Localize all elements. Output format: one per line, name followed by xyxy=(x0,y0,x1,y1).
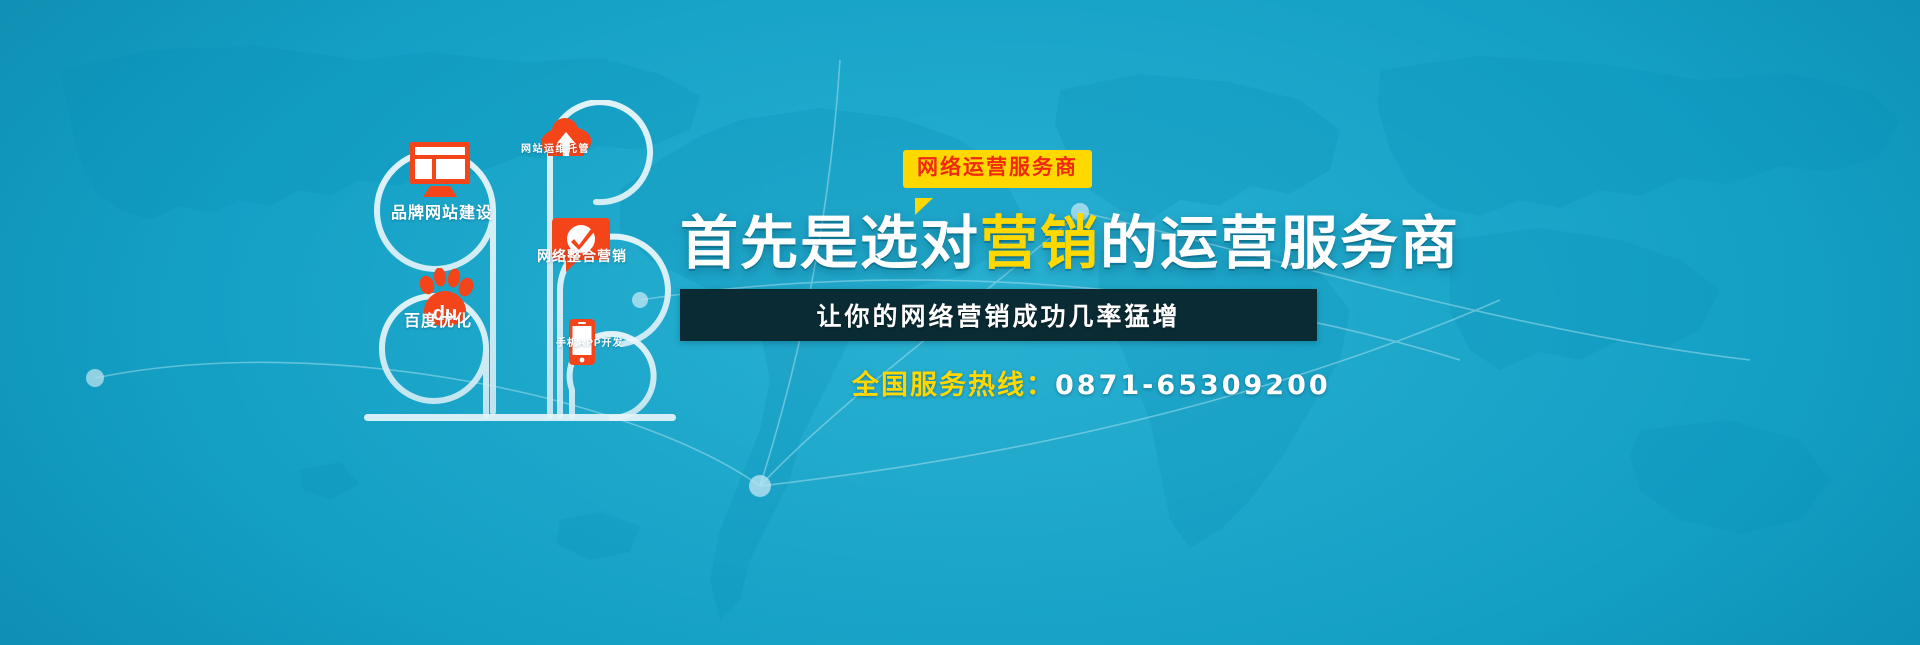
tree-label-brand-site: 品牌网站建设 xyxy=(391,199,493,223)
headline: 首先是选对营销的运营服务商 xyxy=(680,212,1380,277)
banner-content: 网络运营服务商 首先是选对营销的运营服务商 让你的网络营销成功几率猛增 全国服务… xyxy=(680,150,1380,402)
tree-ground-line xyxy=(364,414,676,421)
tree-label-baidu-seo: 百度优化 xyxy=(404,307,472,331)
monitor-icon xyxy=(408,140,472,198)
tree-label-site-hosting: 网站运维托管 xyxy=(521,140,590,155)
tree-label-app-dev: 手机APP开发 xyxy=(556,334,624,349)
tagline-badge-tail xyxy=(915,198,933,215)
tree-label-integrated-marketing: 网络整合营销 xyxy=(537,246,627,266)
headline-highlight: 营销 xyxy=(980,211,1100,276)
tagline-badge: 网络运营服务商 xyxy=(903,150,1092,188)
subtitle-bar: 让你的网络营销成功几率猛增 xyxy=(680,289,1317,341)
hotline: 全国服务热线：0871-65309200 xyxy=(852,363,1380,402)
headline-part2: 的运营服务商 xyxy=(1100,211,1460,276)
subtitle-text: 让你的网络营销成功几率猛增 xyxy=(816,297,1180,333)
headline-part1: 首先是选对 xyxy=(680,211,980,276)
tagline-badge-wrapper: 网络运营服务商 xyxy=(903,150,1380,198)
hotline-number: 0871-65309200 xyxy=(1055,370,1331,401)
hotline-label: 全国服务热线： xyxy=(852,370,1055,400)
promo-banner: du 品牌网站建设 网站运维托管 网络整合营销 百度优化 手机APP开发 网络运… xyxy=(0,0,1920,645)
